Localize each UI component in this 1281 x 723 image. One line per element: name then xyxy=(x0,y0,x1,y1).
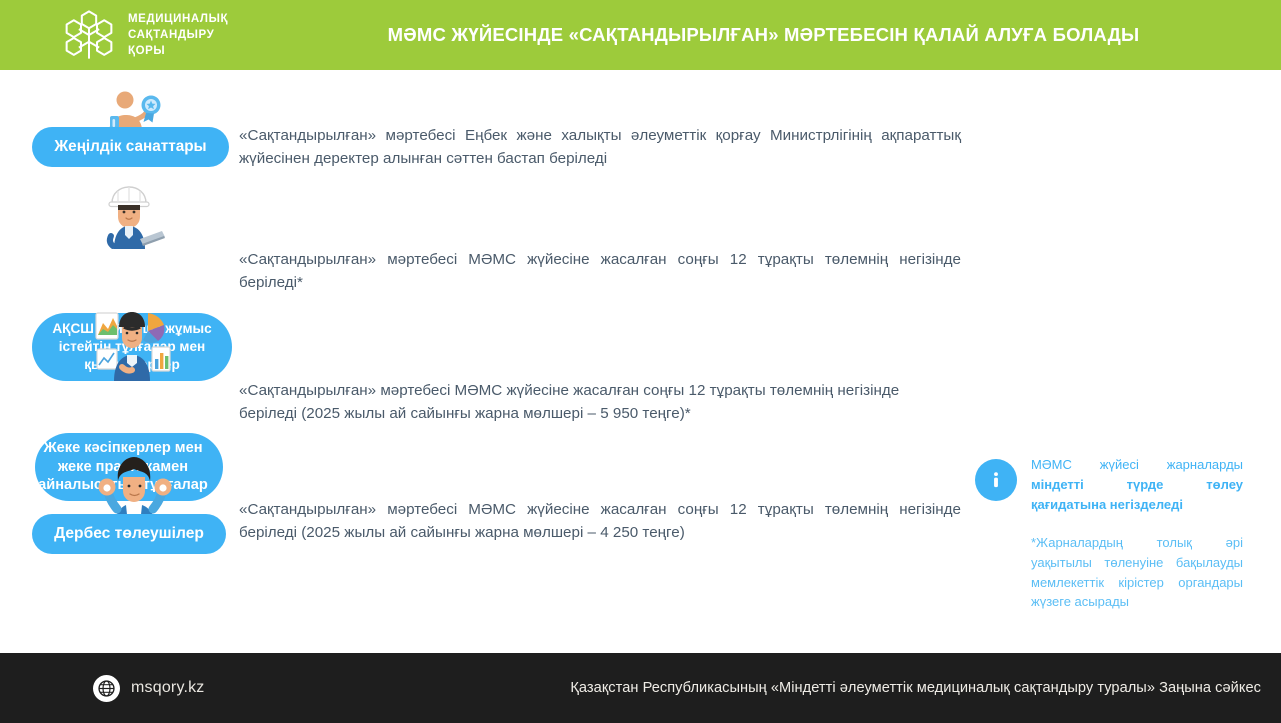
page-header: МЕДИЦИНАЛЫҚ САҚТАНДЫРУ ҚОРЫ МӘМС ЖҮЙЕСІН… xyxy=(0,0,1281,70)
info-footnote: *Жарналардың толық әрі уақытылы төленуін… xyxy=(1031,533,1243,612)
brand-logo: МЕДИЦИНАЛЫҚ САҚТАНДЫРУ ҚОРЫ xyxy=(62,8,228,62)
footer-website-label: msqory.kz xyxy=(131,679,205,697)
info-lead-text: МӘМС жүйесі жарналарды міндетті түрде тө… xyxy=(1031,455,1243,514)
page-footer: msqory.kz Қазақстан Республикасының «Мін… xyxy=(0,653,1281,723)
badge-row-1[interactable]: Жеңілдік санаттары xyxy=(32,127,229,167)
badge-row-4[interactable]: Дербес төлеушілер xyxy=(32,514,226,554)
badge-row-1-label: Жеңілдік санаттары xyxy=(54,137,206,157)
row-4-description: «Сақтандырылған» мәртебесі МӘМС жүйесіне… xyxy=(239,498,961,544)
info-lead-regular: МӘМС жүйесі жарналарды xyxy=(1031,457,1243,472)
row-3-description: «Сақтандырылған» мәртебесі МӘМС жүйесіне… xyxy=(239,379,961,425)
globe-icon xyxy=(93,675,120,702)
info-circle-icon xyxy=(975,459,1017,501)
row-2-description: «Сақтандырылған» мәртебесі МӘМС жүйесіне… xyxy=(239,248,961,294)
worker-hardhat-laptop-icon xyxy=(96,181,168,251)
footer-legal-text: Қазақстан Республикасының «Міндетті әлеу… xyxy=(570,653,1261,723)
page-title: МӘМС ЖҮЙЕСІНДЕ «САҚТАНДЫРЫЛҒАН» МӘРТЕБЕС… xyxy=(256,0,1281,70)
badge-row-4-label: Дербес төлеушілер xyxy=(54,524,204,544)
info-lead-bold: міндетті түрде төлеу қағидатына негіздел… xyxy=(1031,477,1243,512)
hexagon-flower-logo-icon xyxy=(62,8,116,62)
brand-name: МЕДИЦИНАЛЫҚ САҚТАНДЫРУ ҚОРЫ xyxy=(128,11,228,60)
row-1-description: «Сақтандырылған» мәртебесі Еңбек және ха… xyxy=(239,124,961,170)
footer-website-link[interactable]: msqory.kz xyxy=(93,653,205,723)
entrepreneur-charts-icon xyxy=(86,305,178,383)
